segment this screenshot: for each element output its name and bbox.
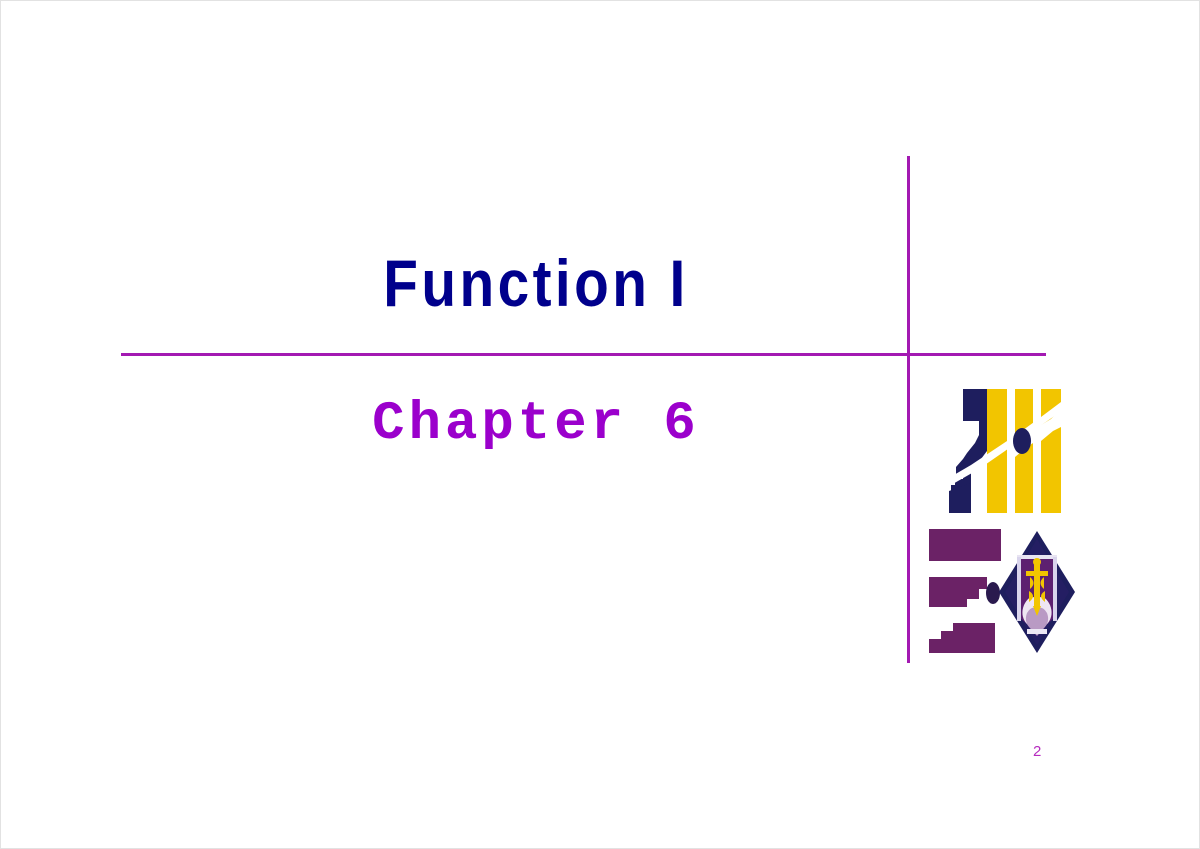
slide-title: Function I bbox=[231, 247, 842, 319]
navy-diamond-crest bbox=[999, 531, 1075, 653]
university-crest-logo bbox=[923, 381, 1085, 653]
slide-subtitle: Chapter 6 bbox=[181, 394, 891, 456]
plum-dot bbox=[986, 582, 1000, 604]
page-number: 2 bbox=[1033, 743, 1041, 760]
vertical-rule-divider bbox=[907, 156, 910, 663]
logo-artwork bbox=[923, 381, 1085, 653]
slide-canvas: Function I Chapter 6 bbox=[0, 0, 1200, 849]
navy-dot bbox=[1013, 428, 1031, 454]
crest-shield-left-bar bbox=[1017, 557, 1021, 621]
crest-shield-right-bar bbox=[1053, 557, 1057, 621]
horizontal-rule-divider bbox=[121, 353, 1046, 356]
crest-base-plate bbox=[1027, 629, 1047, 634]
